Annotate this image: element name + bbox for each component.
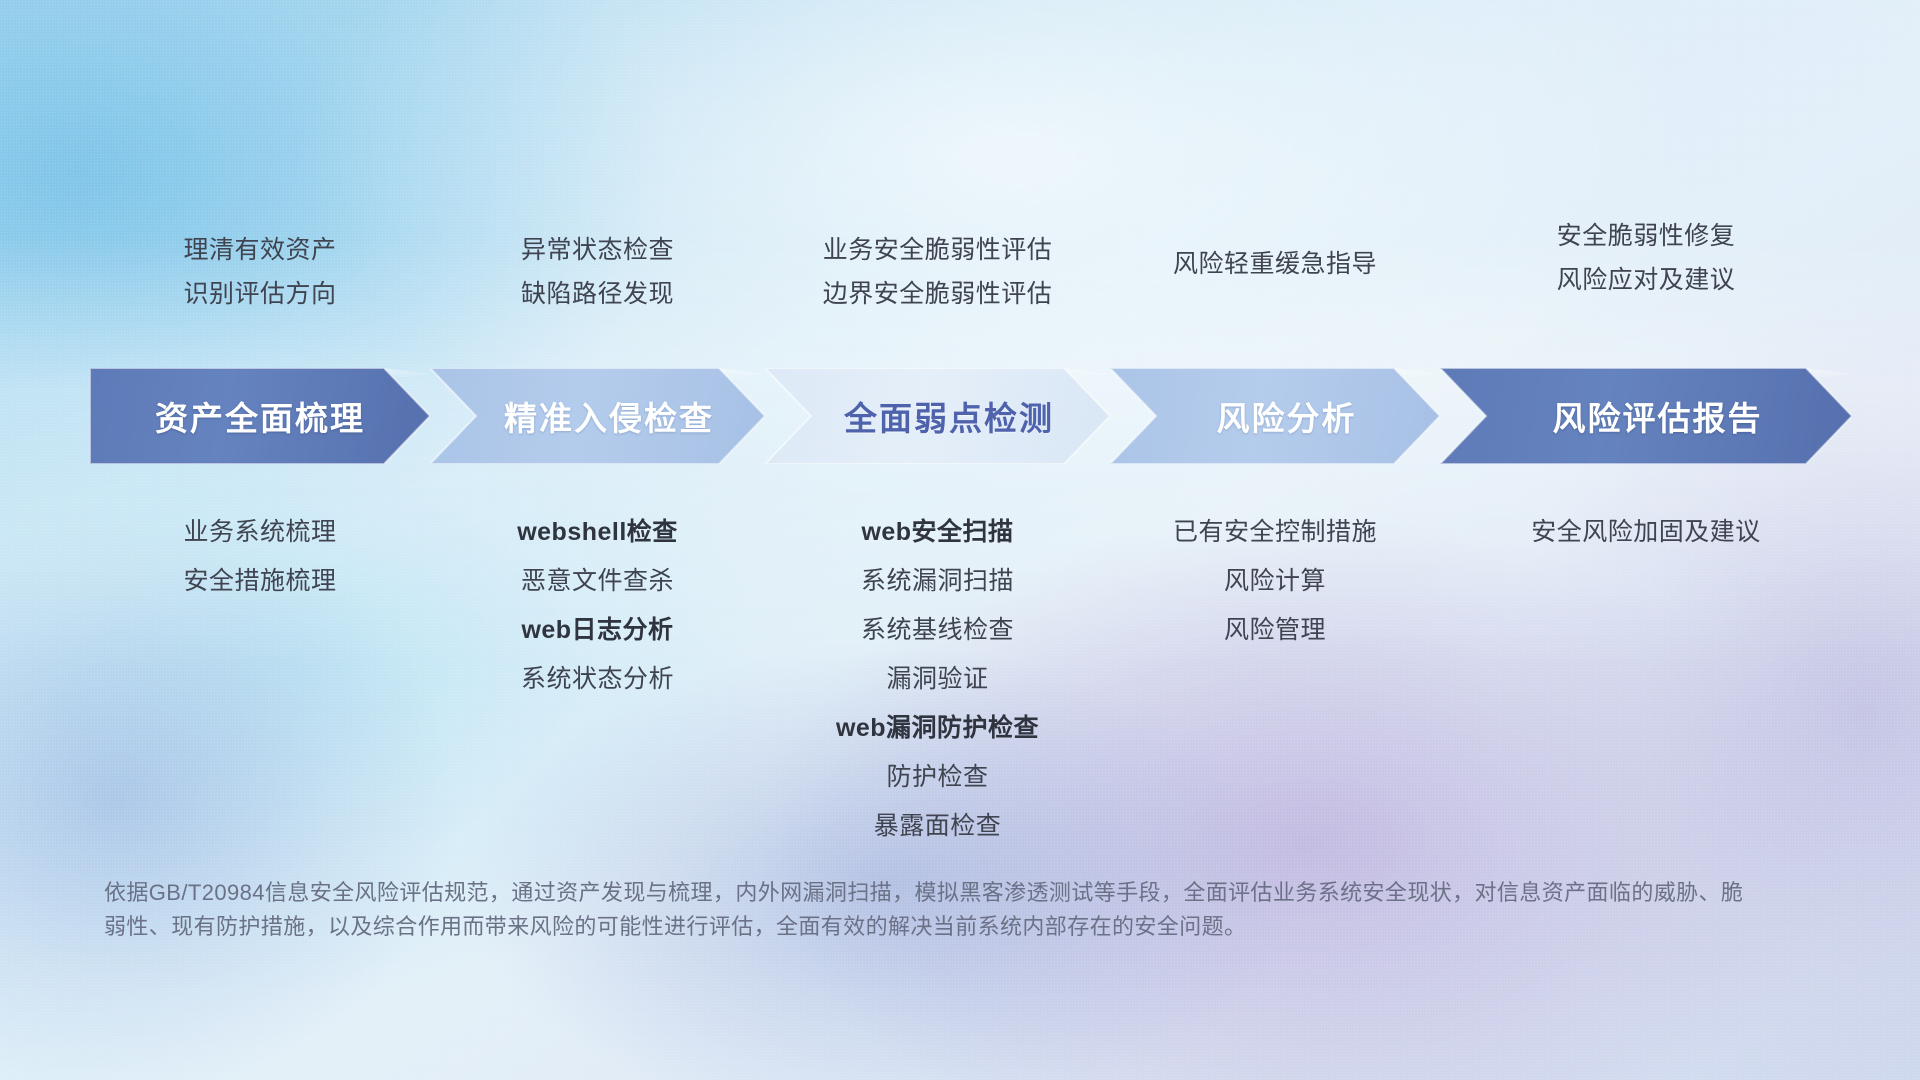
top-item: 风险应对及建议 [1557, 258, 1736, 302]
bottom-item: 系统状态分析 [521, 655, 674, 704]
top-item: 缺陷路径发现 [521, 272, 674, 316]
top-item: 理清有效资产 [183, 228, 336, 272]
top-item: 异常状态检查 [521, 228, 674, 272]
chevron-stage-asset-inventory[interactable]: 资产全面梳理 [90, 368, 430, 464]
chevron-label-intrusion-check: 精准入侵检查 [481, 392, 714, 440]
top-column-weakness-detection: 业务安全脆弱性评估边界安全脆弱性评估 [765, 228, 1110, 316]
process-chevron-band: 资产全面梳理精准入侵检查全面弱点检测风险分析风险评估报告 [0, 368, 1920, 464]
top-item: 业务安全脆弱性评估 [823, 228, 1053, 272]
top-column-intrusion-check: 异常状态检查缺陷路径发现 [430, 228, 765, 316]
bottom-item: 恶意文件查杀 [521, 557, 674, 606]
chevron-stage-weakness-detection[interactable]: 全面弱点检测 [765, 368, 1110, 464]
chevron-stage-intrusion-check[interactable]: 精准入侵检查 [430, 368, 765, 464]
chevron-stage-assessment-report[interactable]: 风险评估报告 [1440, 368, 1852, 464]
bottom-item: 暴露面检查 [874, 802, 1002, 851]
bottom-column-asset-inventory: 业务系统梳理安全措施梳理 [90, 508, 430, 606]
bottom-item: 系统基线检查 [861, 606, 1014, 655]
bottom-item: 防护检查 [886, 753, 988, 802]
top-column-asset-inventory: 理清有效资产识别评估方向 [90, 228, 430, 316]
bottom-item: 漏洞验证 [886, 655, 988, 704]
bottom-item: 安全措施梳理 [183, 557, 336, 606]
bottom-item: web日志分析 [521, 606, 673, 655]
bottom-item: 风险计算 [1224, 557, 1326, 606]
chevron-stage-risk-analysis[interactable]: 风险分析 [1110, 368, 1440, 464]
top-item: 识别评估方向 [183, 272, 336, 316]
chevron-label-assessment-report: 风险评估报告 [1530, 392, 1763, 440]
chevron-label-risk-analysis: 风险分析 [1194, 392, 1357, 440]
bottom-item: webshell检查 [517, 508, 678, 557]
chevron-label-asset-inventory: 资产全面梳理 [155, 392, 365, 440]
bottom-item: 系统漏洞扫描 [861, 557, 1014, 606]
bottom-column-assessment-report: 安全风险加固及建议 [1440, 508, 1852, 557]
bottom-column-weakness-detection: web安全扫描系统漏洞扫描系统基线检查漏洞验证web漏洞防护检查防护检查暴露面检… [765, 508, 1110, 851]
infographic-canvas: 理清有效资产识别评估方向异常状态检查缺陷路径发现业务安全脆弱性评估边界安全脆弱性… [0, 0, 1920, 1080]
top-item: 风险轻重缓急指导 [1173, 242, 1377, 286]
bottom-item: 业务系统梳理 [183, 508, 336, 557]
top-column-risk-analysis: 风险轻重缓急指导 [1110, 242, 1440, 286]
top-item: 边界安全脆弱性评估 [823, 272, 1053, 316]
chevron-label-weakness-detection: 全面弱点检测 [821, 392, 1054, 440]
bottom-item: 已有安全控制措施 [1173, 508, 1377, 557]
bottom-item: web漏洞防护检查 [836, 704, 1039, 753]
bottom-item: 风险管理 [1224, 606, 1326, 655]
bottom-item: web安全扫描 [861, 508, 1013, 557]
bottom-item: 安全风险加固及建议 [1531, 508, 1761, 557]
top-column-assessment-report: 安全脆弱性修复风险应对及建议 [1440, 214, 1852, 302]
footer-description: 依据GB/T20984信息安全风险评估规范，通过资产发现与梳理，内外网漏洞扫描，… [104, 876, 1744, 944]
top-item: 安全脆弱性修复 [1557, 214, 1736, 258]
bottom-column-risk-analysis: 已有安全控制措施风险计算风险管理 [1110, 508, 1440, 655]
bottom-column-intrusion-check: webshell检查恶意文件查杀web日志分析系统状态分析 [430, 508, 765, 704]
